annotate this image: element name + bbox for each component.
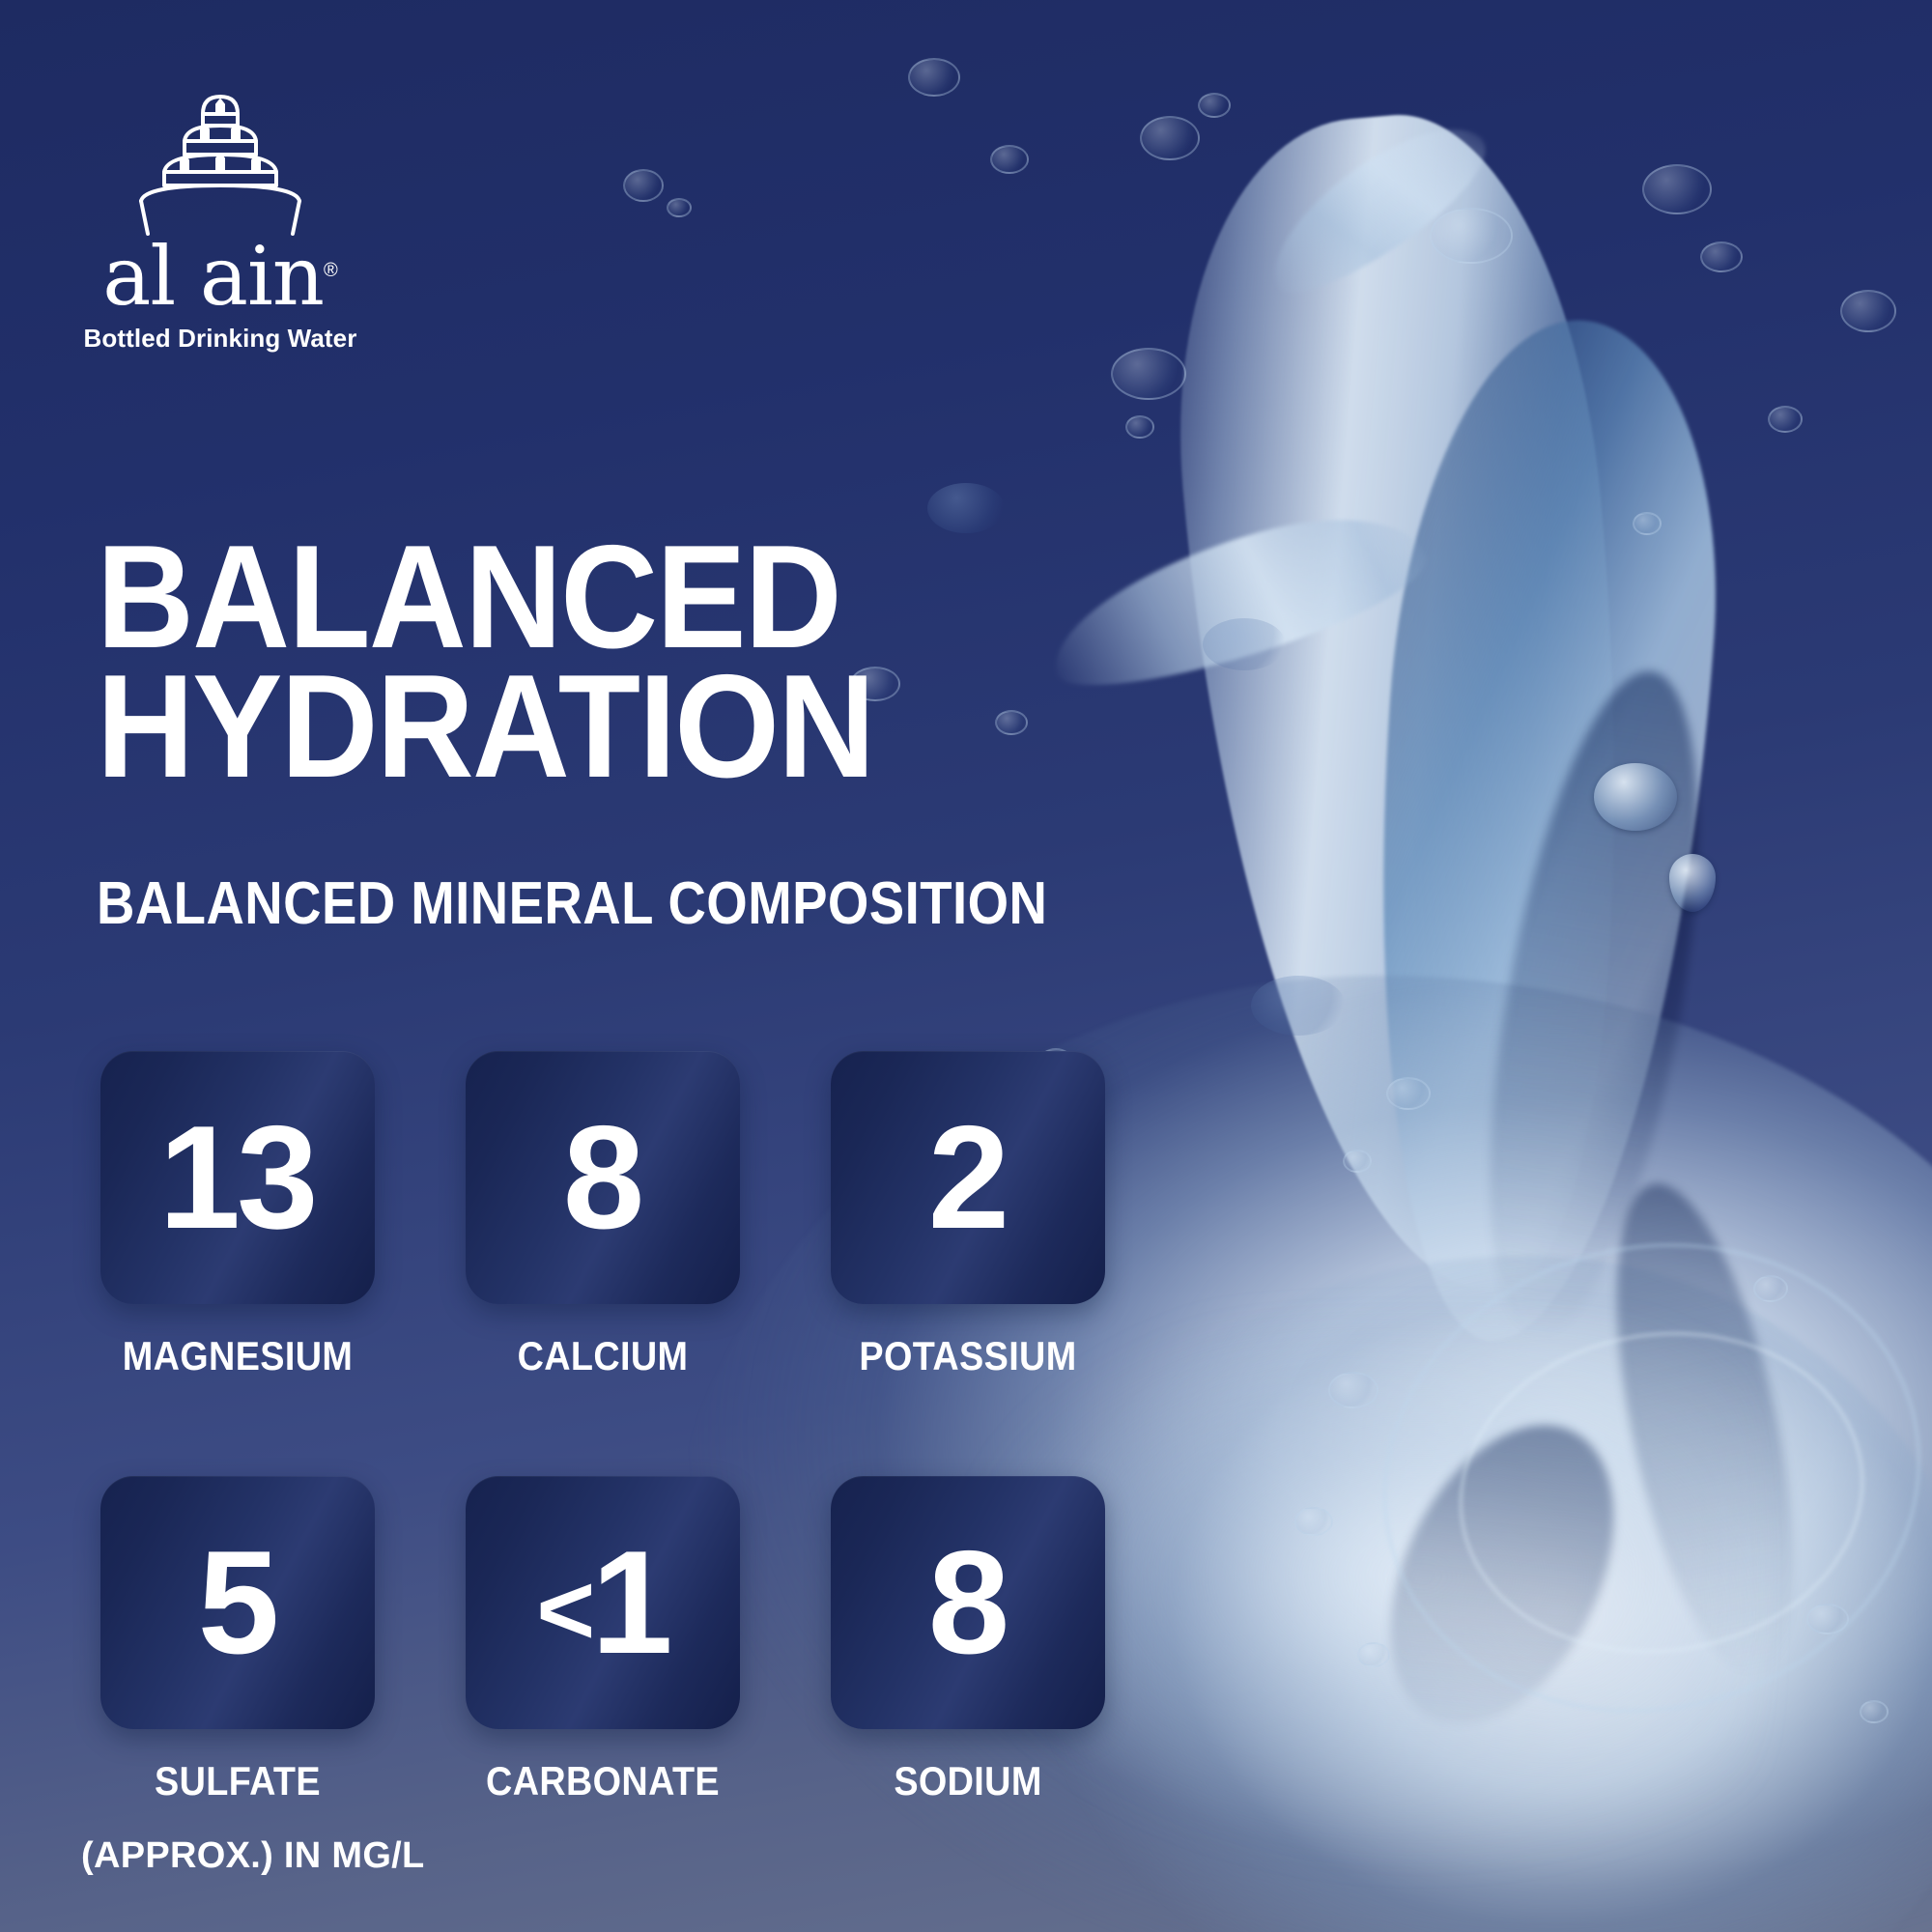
bubble-icon	[1251, 976, 1346, 1036]
mineral-value: 2	[930, 1104, 1007, 1251]
brand-wordmark: al ain®	[75, 238, 365, 316]
bubble-icon	[1140, 116, 1200, 160]
bubble-icon	[1806, 1604, 1849, 1634]
registered-mark: ®	[324, 260, 338, 281]
water-rim-icon	[1333, 1187, 1932, 1768]
bubble-icon	[1753, 1275, 1788, 1302]
bubble-icon	[1633, 512, 1662, 535]
bubble-icon	[908, 58, 960, 97]
mineral-tile: 13	[100, 1051, 375, 1304]
bubble-icon	[1203, 618, 1286, 670]
bubble-icon	[1357, 1642, 1390, 1667]
al-ain-fort-tower-icon	[124, 81, 317, 236]
brand-wordmark-text: al ain	[102, 229, 324, 324]
mineral-number: 5	[198, 1529, 276, 1676]
bubble-icon	[995, 710, 1028, 735]
water-fold-icon	[1450, 657, 1739, 1353]
less-than-prefix: <	[536, 1560, 593, 1661]
mineral-value: 8	[565, 1104, 641, 1251]
mineral-number: 2	[928, 1104, 1007, 1251]
bubble-icon	[1768, 406, 1803, 433]
mineral-number: 8	[928, 1529, 1007, 1676]
bubble-icon	[1111, 348, 1186, 400]
bubble-icon	[1700, 241, 1743, 272]
mineral-tile: 5	[100, 1476, 375, 1729]
mineral-cell-carbonate: <1 CARBONATE	[466, 1476, 740, 1804]
page-subtitle: BALANCED MINERAL COMPOSITION	[97, 869, 1047, 938]
bubble-icon	[1860, 1700, 1889, 1723]
headline-line-2: HYDRATION	[97, 663, 873, 792]
water-pool-inner-icon	[1024, 1256, 1932, 1932]
splash-column-icon	[1152, 100, 1669, 1311]
mineral-label: SULFATE	[114, 1758, 361, 1804]
mineral-value: 5	[200, 1529, 276, 1676]
poster-canvas: al ain® Bottled Drinking Water BALANCED …	[0, 0, 1932, 1932]
bubble-icon	[1386, 1077, 1431, 1110]
brand-tagline: Bottled Drinking Water	[75, 324, 365, 354]
mineral-number: 8	[563, 1104, 641, 1251]
water-fold-icon	[1346, 1389, 1659, 1760]
bubble-icon	[1294, 1507, 1333, 1536]
water-rim-icon	[1438, 1306, 1885, 1678]
bubble-icon	[1328, 1372, 1378, 1408]
splash-column-back-icon	[1346, 309, 1735, 1352]
mineral-label: CARBONATE	[479, 1758, 726, 1804]
mineral-cell-sodium: 8 SODIUM	[831, 1476, 1105, 1804]
mineral-grid: 13 MAGNESIUM 8 CALCIUM 2 POTASSIUM	[100, 1051, 1105, 1804]
bubble-icon	[1343, 1150, 1372, 1173]
bubble-icon	[1840, 290, 1896, 332]
splash-finger-icon	[1035, 490, 1438, 708]
brand-logo: al ain® Bottled Drinking Water	[75, 81, 365, 354]
mineral-cell-magnesium: 13 MAGNESIUM	[100, 1051, 375, 1379]
mineral-cell-calcium: 8 CALCIUM	[466, 1051, 740, 1379]
mineral-value: <1	[536, 1529, 668, 1676]
bubble-icon	[1430, 208, 1513, 264]
mineral-tile: 8	[831, 1476, 1105, 1729]
mineral-number: 1	[591, 1529, 669, 1676]
bubble-icon	[1198, 93, 1231, 118]
water-fold-icon	[1582, 1169, 1829, 1690]
mineral-cell-sulfate: 5 SULFATE	[100, 1476, 375, 1804]
splash-tip-icon	[1248, 101, 1505, 314]
droplet-icon	[1594, 763, 1677, 831]
bubble-icon	[623, 169, 664, 202]
mineral-number: 13	[158, 1104, 314, 1251]
droplet-icon	[1669, 854, 1716, 912]
page-title: BALANCED HYDRATION	[97, 533, 873, 792]
mineral-label: CALCIUM	[479, 1333, 726, 1379]
mineral-cell-potassium: 2 POTASSIUM	[831, 1051, 1105, 1379]
bubble-icon	[990, 145, 1029, 174]
mineral-value: 8	[930, 1529, 1007, 1676]
mineral-tile: 8	[466, 1051, 740, 1304]
mineral-label: MAGNESIUM	[114, 1333, 361, 1379]
mineral-tile: <1	[466, 1476, 740, 1729]
bubble-icon	[1642, 164, 1712, 214]
bubble-icon	[927, 483, 1005, 533]
units-footnote: (APPROX.) IN MG/L	[81, 1835, 425, 1877]
mineral-label: SODIUM	[844, 1758, 1092, 1804]
mineral-value: 13	[160, 1104, 314, 1251]
bubble-icon	[1125, 415, 1154, 439]
mineral-label: POTASSIUM	[844, 1333, 1092, 1379]
mineral-tile: 2	[831, 1051, 1105, 1304]
bubble-icon	[667, 198, 692, 217]
